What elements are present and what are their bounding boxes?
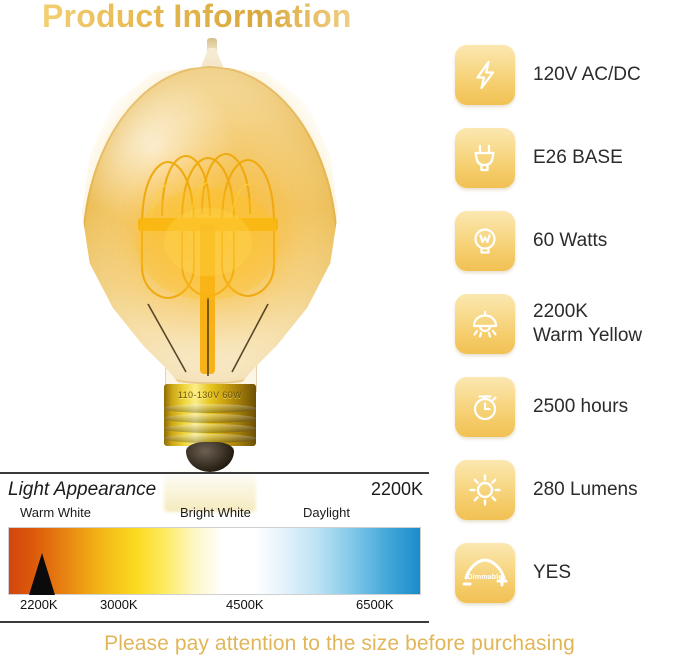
specification-list: 120V AC/DC E26 BASE: [455, 44, 679, 625]
spec-row-voltage: 120V AC/DC: [455, 44, 679, 106]
spec-label-voltage: 120V AC/DC: [533, 63, 641, 87]
spec-row-lifespan: 2500 hours: [455, 376, 679, 438]
clock-icon: [455, 377, 515, 437]
color-temperature-gradient-bar: [8, 527, 421, 595]
color-temperature-marker: [29, 553, 55, 595]
light-appearance-title: Light Appearance: [8, 479, 156, 501]
spec-label-base: E26 BASE: [533, 146, 623, 170]
dimmable-dial-icon: Dimmable: [455, 543, 515, 603]
spec-label-lifespan: 2500 hours: [533, 395, 628, 419]
spec-label-wattage: 60 Watts: [533, 229, 607, 253]
bulb-base-print: 110-130V 60W: [164, 390, 256, 400]
bulb-illustration: 110-130V 60W: [60, 36, 360, 476]
panel-bottom-rule: [0, 621, 429, 623]
zone-label-warm-white: Warm White: [20, 505, 91, 520]
spec-label-dimmable: YES: [533, 561, 571, 585]
plug-icon: [455, 128, 515, 188]
spec-row-wattage: 60 Watts: [455, 210, 679, 272]
light-bulb-icon: [455, 211, 515, 271]
color-temperature-ticks: 2200K 3000K 4500K 6500K: [8, 597, 421, 617]
light-appearance-value: 2200K: [371, 479, 423, 500]
base-thread: [164, 404, 256, 413]
spec-row-color-temperature: 2200K Warm Yellow: [455, 293, 679, 355]
base-thread: [164, 414, 256, 423]
zone-label-bright-white: Bright White: [180, 505, 251, 520]
lamp-shade-icon: [455, 294, 515, 354]
light-appearance-header: Light Appearance 2200K: [0, 474, 429, 503]
tick-2200k: 2200K: [20, 597, 58, 612]
tick-6500k: 6500K: [356, 597, 394, 612]
spec-row-lumens: 280 Lumens: [455, 459, 679, 521]
spec-label-color-temperature: 2200K Warm Yellow: [533, 300, 642, 348]
base-thread: [164, 424, 256, 433]
dimmable-icon-text: Dimmable: [455, 574, 515, 581]
tick-4500k: 4500K: [226, 597, 264, 612]
tick-3000k: 3000K: [100, 597, 138, 612]
spec-row-dimmable: Dimmable YES: [455, 542, 679, 604]
light-appearance-panel: Light Appearance 2200K Warm White Bright…: [0, 472, 429, 623]
lightning-bolt-icon: [455, 45, 515, 105]
bulb-screw-base: 110-130V 60W: [164, 384, 256, 446]
zone-label-daylight: Daylight: [303, 505, 350, 520]
page-title: Product Information: [42, 0, 352, 35]
product-information-infographic: Product Information: [0, 0, 679, 670]
footer-notice: Please pay attention to the size before …: [0, 632, 679, 656]
sun-icon: [455, 460, 515, 520]
color-zone-labels: Warm White Bright White Daylight: [0, 505, 429, 524]
spec-label-lumens: 280 Lumens: [533, 478, 638, 502]
spec-row-base: E26 BASE: [455, 127, 679, 189]
